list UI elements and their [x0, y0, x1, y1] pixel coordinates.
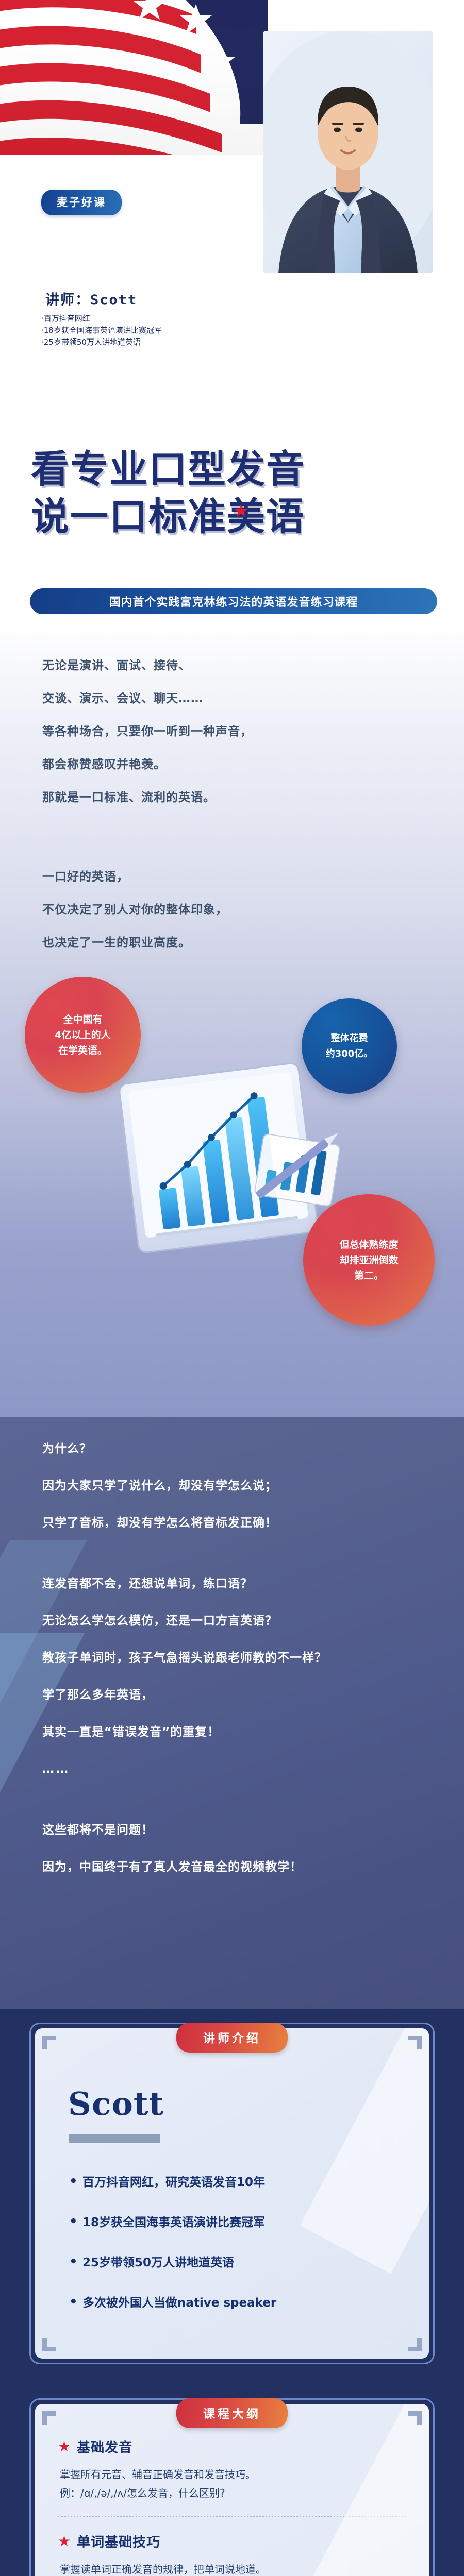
subtitle-ribbon: 国内首个实践富克林练习法的英语发音练习课程	[30, 588, 437, 614]
why-section: 为什么？ 因为大家只学了说什么，却没有学怎么说； 只学了音标，却没有学怎么将音标…	[0, 1417, 464, 2009]
instructor-card-body: Scott 百万抖音网红，研究英语发音10年 18岁获全国海事英语演讲比赛冠军 …	[35, 2028, 429, 2359]
corner-bracket-icon	[408, 2036, 422, 2049]
outline-section: 课程大纲 ★基础发音 掌握所有元音、辅音正确发音和发音技巧。 例：/ɑ/,/ə/…	[29, 2398, 435, 2576]
why-line: 学了那么多年英语，	[42, 1676, 464, 1714]
instructor-section: 讲师介绍 Scott 百万抖音网红，研究英语发音10年 18岁获全国海事英语演讲…	[29, 2023, 435, 2364]
instructor-bullet-list: 百万抖音网红，研究英语发音10年 18岁获全国海事英语演讲比赛冠军 25岁带领5…	[69, 2172, 406, 2313]
outline-item-desc: 掌握读单词正确发音的规律，把单词说地道。	[60, 2560, 406, 2576]
headline-line-1: 看专业口型发音	[31, 446, 305, 493]
credential-item: ·百万抖音网红	[41, 313, 263, 325]
narrative-block-2: 一口好的英语， 不仅决定了别人对你的整体印象， 也决定了一生的职业高度。	[42, 860, 228, 959]
why-line: 连发音都不会，还想说单词，练口语？	[42, 1565, 464, 1602]
why-line: 其实一直是“错误发音”的重复！	[42, 1714, 464, 1751]
list-item: 25岁带领50万人讲地道英语	[69, 2252, 406, 2273]
dotted-divider	[58, 2516, 406, 2517]
outline-item: ★单词基础技巧 掌握读单词正确发音的规律，把单词说地道。 例：matter的t是…	[58, 2532, 406, 2576]
narrative-line: 等各种场合，只要你一听到一种声音，	[42, 715, 253, 748]
narrative-line: 不仅决定了别人对你的整体印象，	[42, 893, 228, 926]
hero-section: 麦子好课 讲师：Scott ·百万抖音网红 ·18岁获全国海事英语演讲比赛冠军 …	[0, 0, 464, 618]
why-line: 教孩子单词时，孩子气急摇头说跟老师教的不一样？	[42, 1639, 464, 1676]
brand-badge: 麦子好课	[41, 190, 122, 215]
outline-item-desc: 掌握所有元音、辅音正确发音和发音技巧。	[60, 2465, 406, 2484]
why-line: 因为大家只学了说什么，却没有学怎么说；	[42, 1467, 464, 1504]
corner-bracket-icon	[408, 2338, 422, 2351]
why-line: 为什么？	[42, 1417, 464, 1467]
list-item: 18岁获全国海事英语演讲比赛冠军	[69, 2212, 406, 2233]
narrative-line: 也决定了一生的职业高度。	[42, 926, 228, 959]
outline-card-body: ★基础发音 掌握所有元音、辅音正确发音和发音技巧。 例：/ɑ/,/ə/,/ʌ/怎…	[35, 2404, 429, 2576]
why-line: 无论怎么学怎么模仿，还是一口方言英语？	[42, 1602, 464, 1639]
instructor-portrait-photo	[263, 31, 433, 273]
instructor-section-title: 讲师介绍	[176, 2023, 288, 2053]
main-headline: 看专业口型发音 说一口标准美语 ★	[31, 446, 305, 540]
corner-bracket-icon	[408, 2411, 422, 2425]
why-line: 只学了音标，却没有学怎么将音标发正确！	[42, 1504, 464, 1541]
corner-bracket-icon	[42, 2338, 56, 2351]
statistics-infographic: 全中国有 4亿以上的人 在学英语。 整体花费 约300亿。 但总体熟练度 却排亚…	[0, 979, 464, 1376]
red-star-icon: ★	[233, 502, 250, 520]
corner-bracket-icon	[42, 2036, 56, 2049]
outline-item-title: 基础发音	[77, 2437, 132, 2456]
stat-circle-learners-text: 全中国有 4亿以上的人 在学英语。	[55, 1012, 110, 1058]
instructor-credentials-hero: ·百万抖音网红 ·18岁获全国海事英语演讲比赛冠军 ·25岁带领50万人讲地道英…	[41, 313, 263, 348]
outline-item-title: 单词基础技巧	[77, 2532, 160, 2551]
narrative-line: 都会称赞感叹并艳羡。	[42, 748, 253, 781]
why-ellipsis: ……	[42, 1751, 464, 1788]
instructor-name: Scott	[68, 2085, 406, 2123]
outline-item: ★基础发音 掌握所有元音、辅音正确发音和发音技巧。 例：/ɑ/,/ə/,/ʌ/怎…	[58, 2437, 406, 2502]
stat-circle-spending-text: 整体花费 约300亿。	[326, 1031, 373, 1062]
credential-item: ·25岁带领50万人讲地道英语	[41, 336, 263, 348]
narrative-line: 一口好的英语，	[42, 860, 228, 893]
stat-circle-learners: 全中国有 4亿以上的人 在学英语。	[25, 977, 141, 1093]
list-item: 百万抖音网红，研究英语发音10年	[69, 2172, 406, 2193]
narrative-line: 交谈、演示、会议、聊天……	[42, 682, 253, 715]
narrative-line: 那就是一口标准、流利的英语。	[42, 781, 253, 814]
stat-circle-proficiency-text: 但总体熟练度 却排亚洲倒数 第二。	[339, 1237, 398, 1283]
list-item: 多次被外国人当做native speaker	[69, 2293, 406, 2313]
narrative-line: 无论是演讲、面试、接待、	[42, 649, 253, 682]
corner-bracket-icon	[42, 2411, 56, 2425]
headline-line-2-wrap: 说一口标准美语 ★	[31, 493, 305, 540]
outline-section-title: 课程大纲	[176, 2398, 288, 2428]
narrative-block-1: 无论是演讲、面试、接待、 交谈、演示、会议、聊天…… 等各种场合，只要你一听到一…	[42, 649, 253, 814]
usa-flag-graphic	[0, 0, 268, 155]
instructor-name-hero: 讲师：Scott	[45, 289, 137, 309]
divider-rule	[69, 2134, 160, 2143]
stat-circle-spending: 整体花费 约300亿。	[302, 998, 397, 1094]
why-line: 因为，中国终于有了真人发音最全的视频教学！	[42, 1849, 464, 1886]
narrative-section: 无论是演讲、面试、接待、 交谈、演示、会议、聊天…… 等各种场合，只要你一听到一…	[0, 618, 464, 1417]
red-star-icon: ★	[58, 2534, 71, 2549]
credential-item: ·18岁获全国海事英语演讲比赛冠军	[41, 325, 263, 336]
outline-item-example: 例：/ɑ/,/ə/,/ʌ/怎么发音，什么区别?	[60, 2484, 406, 2502]
cards-container: 讲师介绍 Scott 百万抖音网红，研究英语发音10年 18岁获全国海事英语演讲…	[0, 2023, 464, 2576]
why-line: 这些都将不是问题！	[42, 1811, 464, 1849]
instructor-card-shell: Scott 百万抖音网红，研究英语发音10年 18岁获全国海事英语演讲比赛冠军 …	[29, 2023, 435, 2364]
stat-circle-proficiency: 但总体熟练度 却排亚洲倒数 第二。	[303, 1194, 435, 1326]
headline-line-2: 说一口标准美语	[31, 495, 305, 539]
red-star-icon: ★	[58, 2439, 71, 2454]
